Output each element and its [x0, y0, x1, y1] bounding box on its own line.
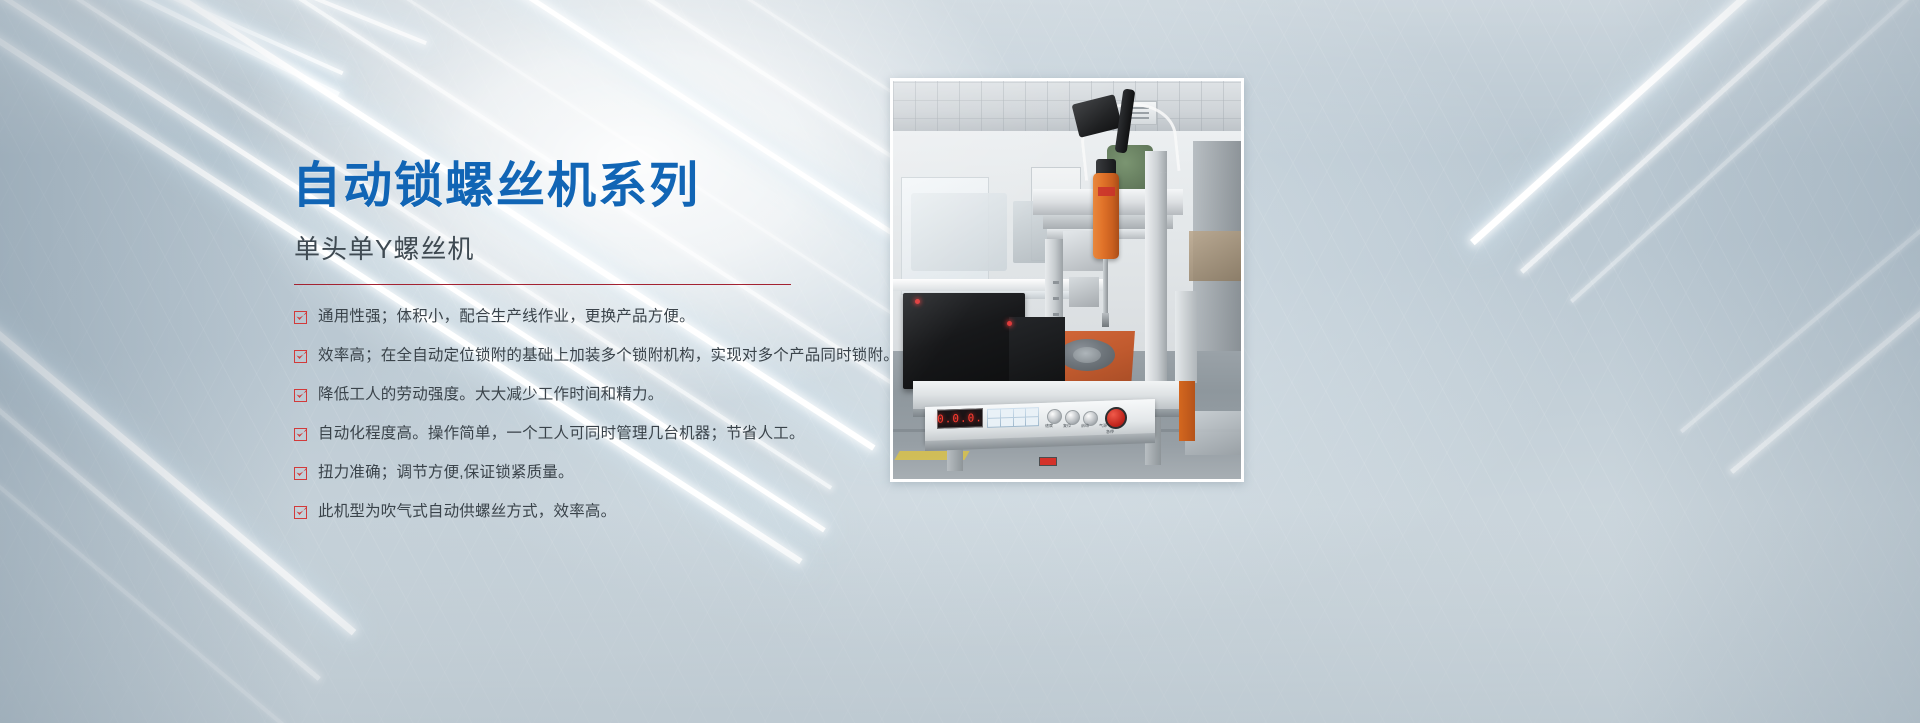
keypad-key	[1014, 409, 1026, 417]
machine-feeder-unit-side	[1009, 317, 1065, 391]
feature-list: 通用性强；体积小，配合生产线作业，更换产品方便。 效率高；在全自动定位锁附的基础…	[292, 307, 892, 523]
feature-text: 此机型为吹气式自动供螺丝方式，效率高。	[318, 502, 616, 523]
checkbox-checked-icon	[294, 467, 307, 480]
keypad-key	[1014, 418, 1026, 426]
checkbox-checked-icon	[294, 311, 307, 324]
checkbox-checked-icon	[294, 350, 307, 363]
status-led	[1007, 321, 1012, 326]
list-item: 自动化程度高。操作简单，一个工人可同时管理几台机器；节省人工。	[292, 424, 892, 445]
machine-side-panel	[1179, 381, 1195, 441]
machine-feeder-unit	[903, 293, 1025, 389]
checkbox-checked-icon	[294, 506, 307, 519]
list-item: 此机型为吹气式自动供螺丝方式，效率高。	[292, 502, 892, 523]
list-item: 通用性强；体积小，配合生产线作业，更换产品方便。	[292, 307, 892, 328]
product-photo-frame: 0.0.0. 速度 复位 启动 气源 急停	[890, 78, 1244, 482]
feature-text: 效率高；在全自动定位锁附的基础上加装多个锁附机构，实现对多个产品同时锁附。	[318, 346, 899, 367]
status-led	[915, 299, 920, 304]
feature-text: 自动化程度高。操作简单，一个工人可同时管理几台机器；节省人工。	[318, 424, 805, 445]
panel-label: 速度	[1045, 423, 1053, 429]
list-item: 效率高；在全自动定位锁附的基础上加装多个锁附机构，实现对多个产品同时锁附。	[292, 346, 892, 367]
display-value: 0.0.0.	[937, 411, 983, 426]
feature-text: 降低工人的劳动强度。大大减少工作时间和精力。	[318, 385, 663, 406]
keypad-key	[988, 418, 1000, 426]
keypad-key	[1026, 408, 1038, 416]
keypad-key	[988, 409, 1000, 417]
keypad-key	[1001, 418, 1013, 426]
photo-background-machine	[911, 193, 1007, 271]
page-subtitle: 单头单Y螺丝机	[294, 229, 892, 266]
checkbox-checked-icon	[294, 389, 307, 402]
machine-workpiece-center	[1073, 347, 1101, 363]
list-item: 降低工人的劳动强度。大大减少工作时间和精力。	[292, 385, 892, 406]
machine-driver-label	[1098, 187, 1115, 196]
photo-ceiling	[893, 81, 1241, 137]
photo-shelf	[1189, 231, 1241, 281]
product-photo: 0.0.0. 速度 复位 启动 气源 急停	[893, 81, 1241, 479]
keypad-key	[1001, 409, 1013, 417]
machine-screw-bit	[1103, 259, 1108, 313]
machine-slide-block	[1069, 277, 1099, 307]
machine-electric-screwdriver	[1093, 173, 1119, 259]
keypad	[987, 407, 1039, 428]
machine-screw-bit-tip	[1102, 313, 1109, 327]
list-item: 扭力准确；调节方便,保证锁紧质量。	[292, 463, 892, 484]
panel-label: 启动	[1081, 423, 1089, 429]
banner-content: 自动锁螺丝机系列 单头单Y螺丝机 通用性强；体积小，配合生产线作业，更换产品方便…	[292, 160, 892, 540]
machine-right-housing	[1175, 291, 1197, 383]
feature-text: 扭力准确；调节方便,保证锁紧质量。	[318, 463, 574, 484]
feature-text: 通用性强；体积小，配合生产线作业，更换产品方便。	[318, 307, 695, 328]
keypad-key	[1026, 417, 1038, 425]
power-switch	[1039, 457, 1057, 466]
checkbox-checked-icon	[294, 428, 307, 441]
digital-display: 0.0.0.	[937, 408, 983, 429]
page-title: 自动锁螺丝机系列	[292, 160, 892, 213]
panel-label: 急停	[1106, 429, 1114, 435]
panel-label: 复位	[1063, 423, 1071, 429]
machine-column-right	[1145, 151, 1167, 391]
banner-root: 自动锁螺丝机系列 单头单Y螺丝机 通用性强；体积小，配合生产线作业，更换产品方便…	[0, 0, 1920, 723]
title-divider	[294, 284, 791, 285]
